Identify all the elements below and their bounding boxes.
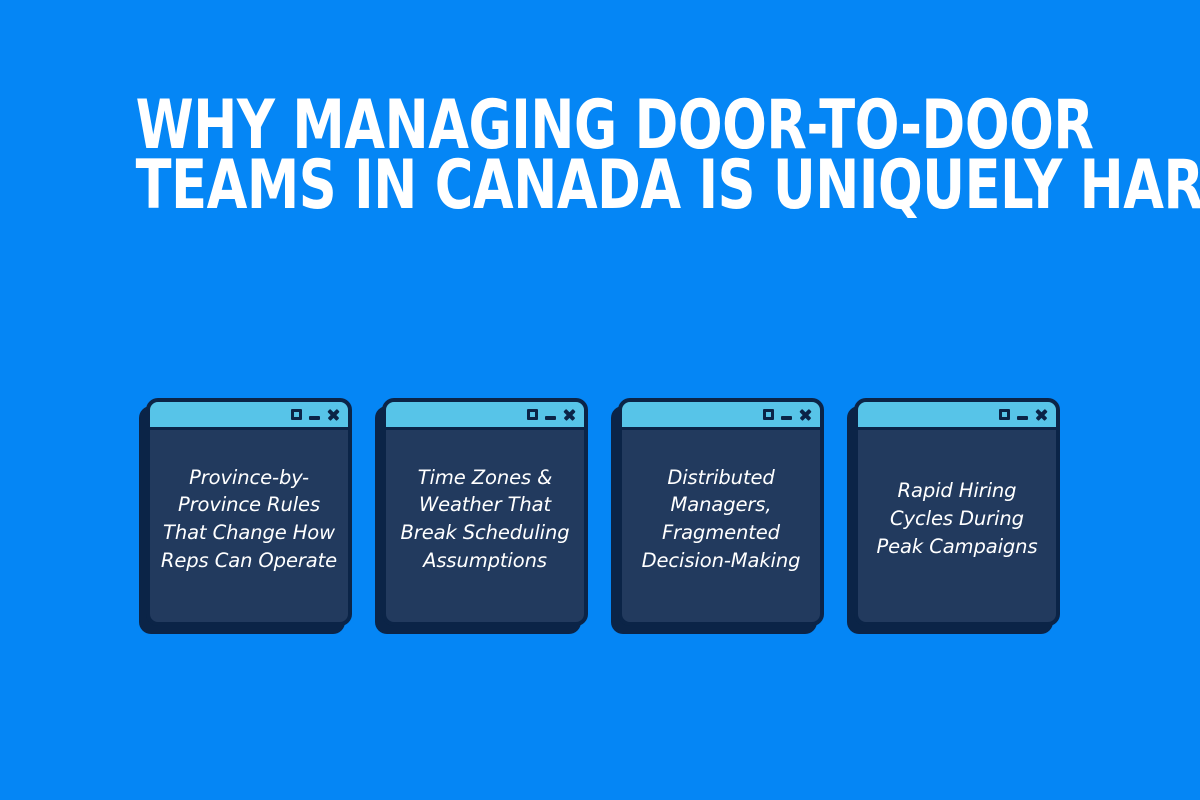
window-card[interactable]: Rapid Hiring Cycles During Peak Campaign… — [854, 398, 1060, 626]
close-icon[interactable] — [563, 409, 575, 421]
maximize-icon[interactable] — [527, 409, 538, 420]
close-icon[interactable] — [1035, 409, 1047, 421]
cards-row: Province-by-Province Rules That Change H… — [146, 398, 1060, 634]
window-body: Time Zones & Weather That Break Scheduli… — [386, 430, 584, 622]
page-title: Why Managing Door-to-Door Teams in Canad… — [0, 96, 1200, 216]
window-body: Rapid Hiring Cycles During Peak Campaign… — [858, 430, 1056, 622]
maximize-icon[interactable] — [999, 409, 1010, 420]
card-text: Province-by-Province Rules That Change H… — [160, 464, 338, 575]
window-controls — [527, 409, 575, 421]
window-card[interactable]: Distributed Managers, Fragmented Decisio… — [618, 398, 824, 626]
card-1[interactable]: Province-by-Province Rules That Change H… — [146, 398, 352, 634]
close-icon[interactable] — [327, 409, 339, 421]
card-3[interactable]: Distributed Managers, Fragmented Decisio… — [618, 398, 824, 634]
slide-canvas: Why Managing Door-to-Door Teams in Canad… — [0, 0, 1200, 800]
minimize-icon[interactable] — [1017, 416, 1028, 420]
card-text: Time Zones & Weather That Break Scheduli… — [396, 464, 574, 575]
window-titlebar — [386, 402, 584, 430]
window-card[interactable]: Province-by-Province Rules That Change H… — [146, 398, 352, 626]
minimize-icon[interactable] — [309, 416, 320, 420]
card-2[interactable]: Time Zones & Weather That Break Scheduli… — [382, 398, 588, 634]
card-text: Distributed Managers, Fragmented Decisio… — [632, 464, 810, 575]
card-text: Rapid Hiring Cycles During Peak Campaign… — [868, 477, 1046, 560]
maximize-icon[interactable] — [763, 409, 774, 420]
window-body: Distributed Managers, Fragmented Decisio… — [622, 430, 820, 622]
window-titlebar — [622, 402, 820, 430]
window-controls — [763, 409, 811, 421]
window-controls — [999, 409, 1047, 421]
card-4[interactable]: Rapid Hiring Cycles During Peak Campaign… — [854, 398, 1060, 634]
minimize-icon[interactable] — [545, 416, 556, 420]
window-controls — [291, 409, 339, 421]
maximize-icon[interactable] — [291, 409, 302, 420]
close-icon[interactable] — [799, 409, 811, 421]
window-card[interactable]: Time Zones & Weather That Break Scheduli… — [382, 398, 588, 626]
window-titlebar — [150, 402, 348, 430]
page-title-line-2: Teams in Canada Is Uniquely Hard — [136, 156, 1065, 216]
window-titlebar — [858, 402, 1056, 430]
minimize-icon[interactable] — [781, 416, 792, 420]
window-body: Province-by-Province Rules That Change H… — [150, 430, 348, 622]
